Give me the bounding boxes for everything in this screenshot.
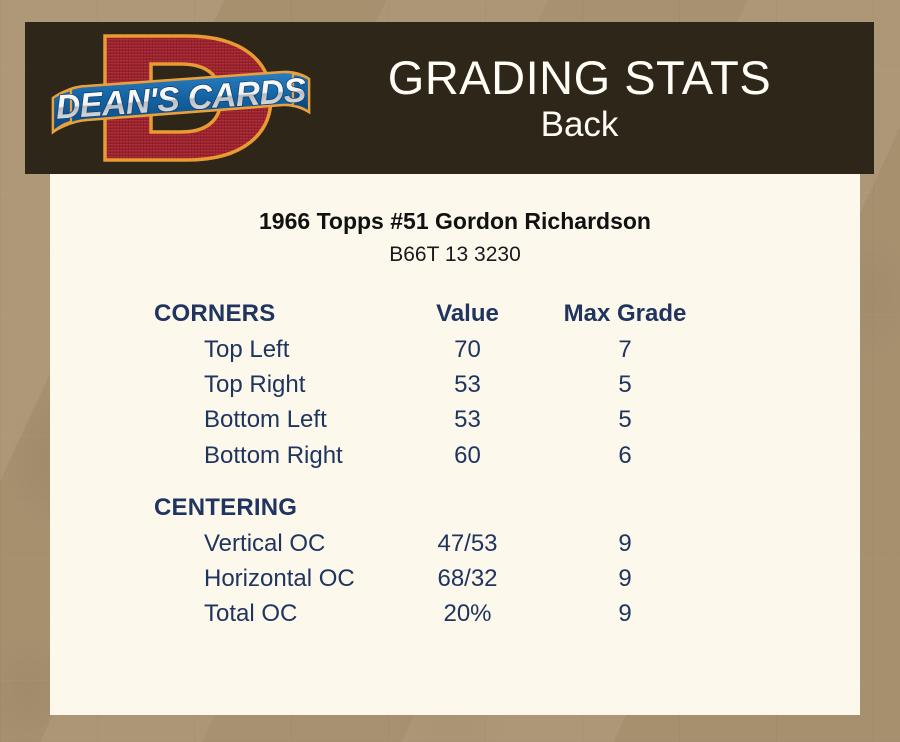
table-row: Bottom Left535 <box>50 402 860 437</box>
content-panel: 1966 Topps #51 Gordon Richardson B66T 13… <box>50 166 860 715</box>
page-subtitle: Back <box>315 107 844 142</box>
card-title: 1966 Topps #51 Gordon Richardson <box>50 208 860 235</box>
row-max-grade: 9 <box>545 561 705 596</box>
logo-banner-text: DEAN'S CARDS <box>55 71 308 126</box>
deans-cards-logo[interactable]: DEAN'S CARDS <box>47 24 315 172</box>
table-row: Top Right535 <box>50 367 860 402</box>
row-value: 20% <box>390 596 545 631</box>
row-value: 60 <box>390 438 545 473</box>
section-title: CORNERS <box>50 297 390 332</box>
deans-cards-logo-svg: DEAN'S CARDS <box>47 24 315 172</box>
card-subtitle: B66T 13 3230 <box>50 243 860 267</box>
header-bar: DEAN'S CARDS GRADING STATS Back <box>25 22 874 174</box>
stat-section-centering: CENTERINGVertical OC47/539Horizontal OC6… <box>50 491 860 632</box>
row-label: Vertical OC <box>50 526 390 561</box>
grading-stats-table: CORNERSValueMax GradeTop Left707Top Righ… <box>50 297 860 631</box>
table-row: Horizontal OC68/329 <box>50 561 860 596</box>
row-value: 47/53 <box>390 526 545 561</box>
row-value: 68/32 <box>390 561 545 596</box>
row-label: Total OC <box>50 596 390 631</box>
column-header-max-grade: Max Grade <box>545 297 705 332</box>
row-label: Horizontal OC <box>50 561 390 596</box>
row-label: Top Right <box>50 367 390 402</box>
card-info: 1966 Topps #51 Gordon Richardson B66T 13… <box>50 166 860 267</box>
header-title-block: GRADING STATS Back <box>315 54 874 142</box>
row-max-grade: 7 <box>545 332 705 367</box>
row-max-grade: 9 <box>545 596 705 631</box>
row-value: 53 <box>390 367 545 402</box>
table-row: Vertical OC47/539 <box>50 526 860 561</box>
section-header-row: CENTERING <box>50 491 860 526</box>
svg-text:DEAN'S CARDS: DEAN'S CARDS <box>55 71 308 126</box>
row-label: Bottom Left <box>50 402 390 437</box>
column-header-value: Value <box>390 297 545 332</box>
section-header-row: CORNERSValueMax Grade <box>50 297 860 332</box>
row-max-grade: 5 <box>545 402 705 437</box>
row-value: 53 <box>390 402 545 437</box>
row-max-grade: 6 <box>545 438 705 473</box>
page-root: DEAN'S CARDS GRADING STATS Back 1966 Top… <box>0 0 900 742</box>
row-label: Top Left <box>50 332 390 367</box>
row-value: 70 <box>390 332 545 367</box>
row-max-grade: 5 <box>545 367 705 402</box>
row-max-grade: 9 <box>545 526 705 561</box>
table-row: Total OC20%9 <box>50 596 860 631</box>
table-row: Bottom Right606 <box>50 438 860 473</box>
page-title: GRADING STATS <box>315 54 844 101</box>
stat-section-corners: CORNERSValueMax GradeTop Left707Top Righ… <box>50 297 860 473</box>
table-row: Top Left707 <box>50 332 860 367</box>
section-title: CENTERING <box>50 491 390 526</box>
row-label: Bottom Right <box>50 438 390 473</box>
